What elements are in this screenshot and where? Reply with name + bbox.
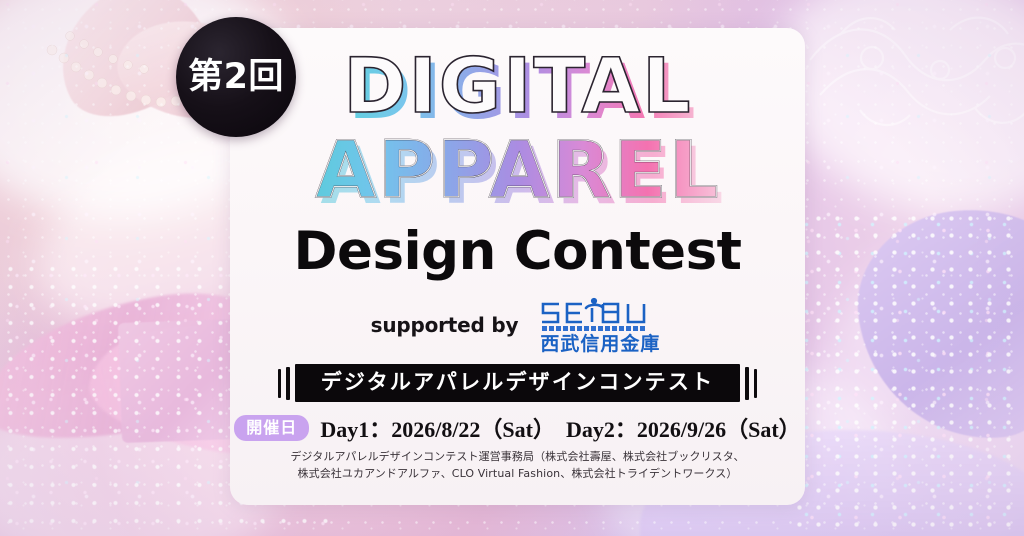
organizer-fineprint-line-2: 株式会社ユカアンドアルファ、CLO Virtual Fashion、株式会社トラ… [230,465,805,482]
title-block: DIGITAL DIGITAL APPAREL APPAREL APPAREL [230,42,805,227]
supported-by-label: supported by [371,313,519,337]
event-dates-row: 開催日 Day1：2026/8/22（Sat） Day2：2026/9/26（S… [230,412,805,444]
contest-title-artwork: DIGITAL DIGITAL APPAREL APPAREL APPAREL [238,42,798,227]
edition-badge-label: 第2回 [188,60,284,95]
event-date-badge: 開催日 [234,415,309,441]
seibu-logo-subtext: 西武信用金庫 [540,335,660,355]
banner-tick-icon [286,367,290,400]
svg-text:APPAREL: APPAREL [315,126,720,216]
seibu-logo: 西武信用金庫 [536,296,664,355]
subtitle-banner: デジタルアパレルデザインコンテスト [295,364,741,402]
svg-text:DIGITAL: DIGITAL [343,42,692,130]
event-date-day1: Day1：2026/8/22（Sat） [320,412,555,444]
banner-tick-icon [745,367,749,400]
organizer-fineprint: デジタルアパレルデザインコンテスト運営事務局（株式会社壽屋、株式会社ブックリスタ… [230,448,805,482]
seibu-wordmark-icon [536,296,664,334]
banner-tick-icon [754,369,757,398]
title-line-1: DIGITAL DIGITAL [343,42,697,136]
title-line-3: Design Contest [230,225,805,278]
title-line-2: APPAREL APPAREL APPAREL [315,126,725,222]
event-date-day2: Day2：2026/9/26（Sat） [566,412,801,444]
content-card: DIGITAL DIGITAL APPAREL APPAREL APPAREL … [230,28,805,505]
banner-tick-icon [278,369,281,398]
organizer-fineprint-line-1: デジタルアパレルデザインコンテスト運営事務局（株式会社壽屋、株式会社ブックリスタ… [230,448,805,465]
subtitle-banner-row: デジタルアパレルデザインコンテスト [230,364,805,402]
edition-badge: 第2回 [176,17,296,137]
banner-image: DIGITAL DIGITAL APPAREL APPAREL APPAREL … [0,0,1024,536]
supporter-row: supported by [230,296,805,355]
